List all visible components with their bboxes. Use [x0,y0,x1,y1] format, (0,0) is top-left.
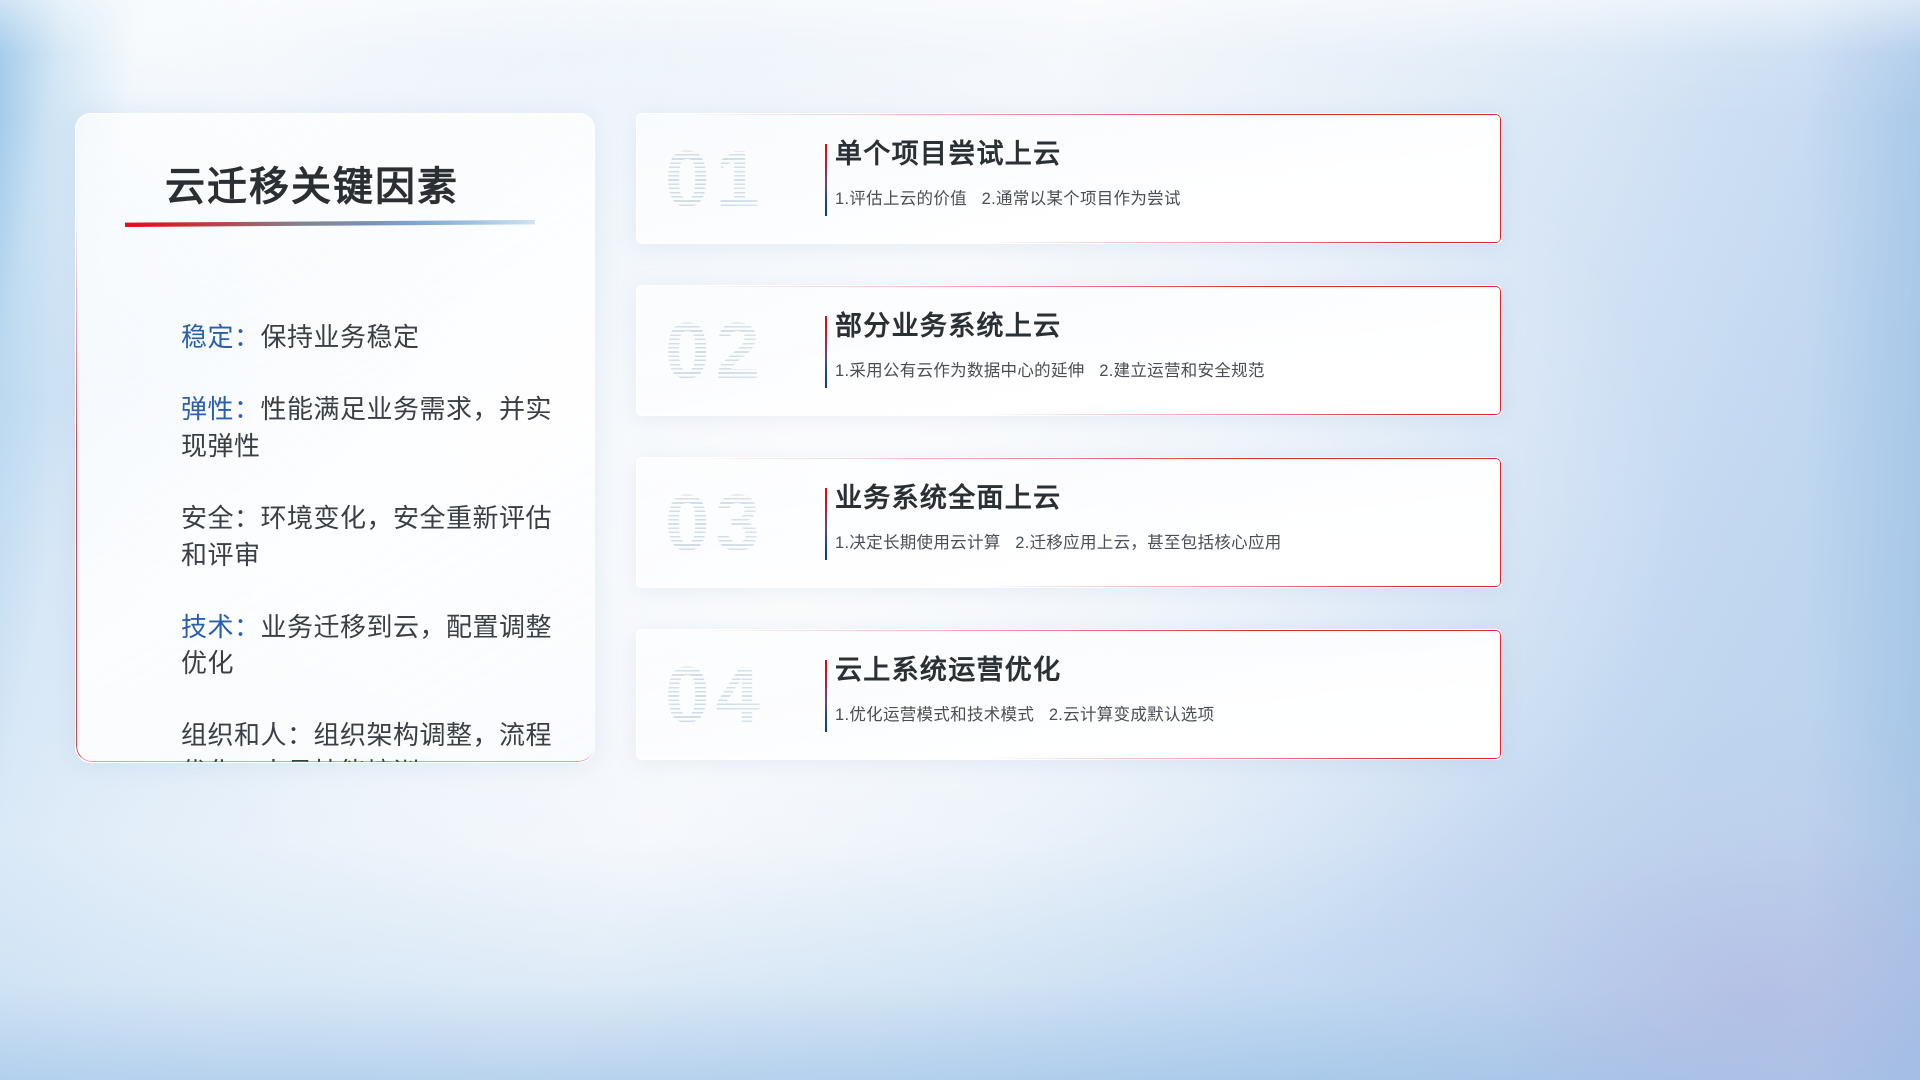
stage-divider-bar [825,660,827,732]
stage-card[interactable]: 02 部分业务系统上云 1.采用公有云作为数据中心的延伸 2.建立运营和安全规范 [636,285,1502,416]
stage-number-watermark: 04 [665,649,766,741]
stage-card-body: 业务系统全面上云 1.决定长期使用云计算 2.迁移应用上云，甚至包括核心应用 [835,482,1479,553]
stage-card-body: 单个项目尝试上云 1.评估上云的价值 2.通常以某个项目作为尝试 [835,138,1479,209]
stage-card-description: 1.评估上云的价值 2.通常以某个项目作为尝试 [835,185,1479,209]
stage-card-body: 部分业务系统上云 1.采用公有云作为数据中心的延伸 2.建立运营和安全规范 [835,310,1479,381]
stage-card[interactable]: 03 业务系统全面上云 1.决定长期使用云计算 2.迁移应用上云，甚至包括核心应… [636,457,1502,588]
list-item: 安全：环境变化，安全重新评估和评审 [181,500,564,574]
stage-card[interactable]: 01 单个项目尝试上云 1.评估上云的价值 2.通常以某个项目作为尝试 [636,113,1502,244]
stage-divider-bar [825,488,827,560]
list-item: 稳定：保持业务稳定 [181,319,564,356]
stage-divider-bar [825,144,827,216]
list-item-label: 弹性： [181,394,261,424]
key-factors-list: 稳定：保持业务稳定 弹性：性能满足业务需求，并实现弹性 安全：环境变化，安全重新… [181,319,564,763]
stage-cards-list: 01 单个项目尝试上云 1.评估上云的价值 2.通常以某个项目作为尝试 02 部… [636,113,1502,760]
list-item-label: 安全： [181,503,261,533]
title-underline-gradient [125,220,535,227]
stage-card-title: 业务系统全面上云 [835,482,1479,515]
stage-card[interactable]: 04 云上系统运营优化 1.优化运营模式和技术模式 2.云计算变成默认选项 [636,629,1502,760]
list-item: 组织和人：组织架构调整，流程优化，人员技能培训 [181,717,564,763]
stage-card-description: 1.决定长期使用云计算 2.迁移应用上云，甚至包括核心应用 [835,529,1479,553]
stage-card-title: 云上系统运营优化 [835,654,1479,687]
list-item-text: 保持业务稳定 [261,322,420,352]
stage-card-body: 云上系统运营优化 1.优化运营模式和技术模式 2.云计算变成默认选项 [835,654,1479,725]
stage-card-title: 部分业务系统上云 [835,310,1479,343]
page-title: 云迁移关键因素 [165,154,459,212]
stage-number-watermark: 03 [665,477,766,569]
stage-card-title: 单个项目尝试上云 [835,138,1479,171]
stage-divider-bar [825,316,827,388]
key-factors-panel: 云迁移关键因素 稳定：保持业务稳定 弹性：性能满足业务需求，并实现弹性 安全：环… [75,113,595,763]
stage-card-description: 1.采用公有云作为数据中心的延伸 2.建立运营和安全规范 [835,357,1479,381]
stage-number-watermark: 01 [665,133,766,225]
list-item-label: 技术： [181,612,261,642]
list-item: 技术：业务迁移到云，配置调整优化 [181,609,564,683]
stage-number-watermark: 02 [665,305,766,397]
list-item-label: 组织和人： [181,720,314,750]
list-item-label: 稳定： [181,322,261,352]
stage-card-description: 1.优化运营模式和技术模式 2.云计算变成默认选项 [835,701,1479,725]
list-item: 弹性：性能满足业务需求，并实现弹性 [181,391,564,465]
